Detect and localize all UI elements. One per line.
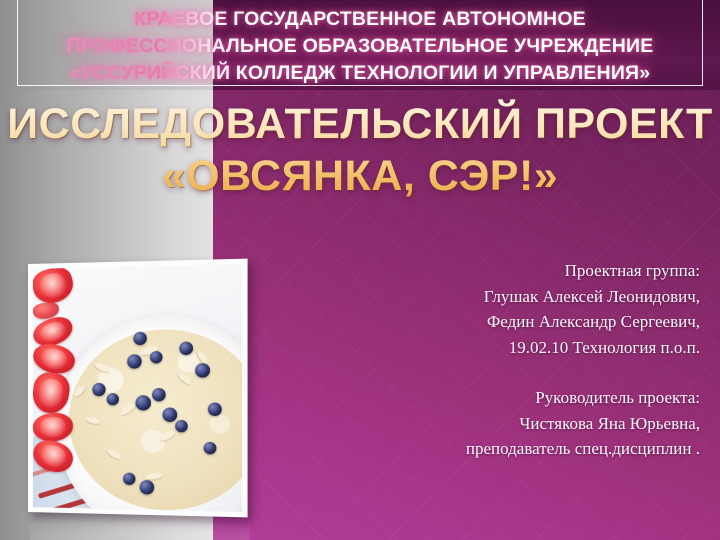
page-title: ИССЛЕДОВАТЕЛЬСКИЙ ПРОЕКТ «ОВСЯНКА, СЭР!» [0,98,720,202]
credits-block: Проектная группа: Глушак Алексей Леонидо… [400,258,700,462]
blueberry [92,383,105,396]
project-group-label: Проектная группа: [400,258,700,284]
title-line-2: «ОВСЯНКА, СЭР!» [0,150,720,202]
project-member-2: Федин Александр Сергеевич, [400,309,700,335]
presentation-slide: КРАЕВОЕ ГОСУДАРСТВЕННОЕ АВТОНОМНОЕ ПРОФЕ… [0,0,720,540]
blueberry [203,442,216,455]
institution-line-3: «УССУРИЙСКИЙ КОЛЛЕДЖ ТЕХНОЛОГИИ И УПРАВЛ… [70,60,651,87]
supervisor-role: преподаватель спец.дисциплин . [400,436,700,462]
supervisor-name: Чистякова Яна Юрьевна, [400,411,700,437]
institution-line-1: КРАЕВОЕ ГОСУДАРСТВЕННОЕ АВТОНОМНОЕ [134,6,586,33]
title-line-1: ИССЛЕДОВАТЕЛЬСКИЙ ПРОЕКТ [0,98,720,150]
project-program-code: 19.02.10 Технология п.о.п. [400,335,700,361]
institution-line-2: ПРОФЕССИОНАЛЬНОЕ ОБРАЗОВАТЕЛЬНОЕ УЧРЕЖДЕ… [67,33,654,60]
photo-frame [28,259,248,518]
oatmeal-bowl-photo [33,264,242,512]
blueberry [208,403,222,417]
credits-spacer [400,360,700,385]
project-member-1: Глушак Алексей Леонидович, [400,284,700,310]
blueberry [106,393,118,405]
photo-container [28,264,244,516]
blueberry [195,363,210,378]
supervisor-label: Руководитель проекта: [400,385,700,411]
institution-name: КРАЕВОЕ ГОСУДАРСТВЕННОЕ АВТОНОМНОЕ ПРОФЕ… [0,2,720,90]
blueberry [127,354,141,368]
photo-reflection [30,513,250,540]
